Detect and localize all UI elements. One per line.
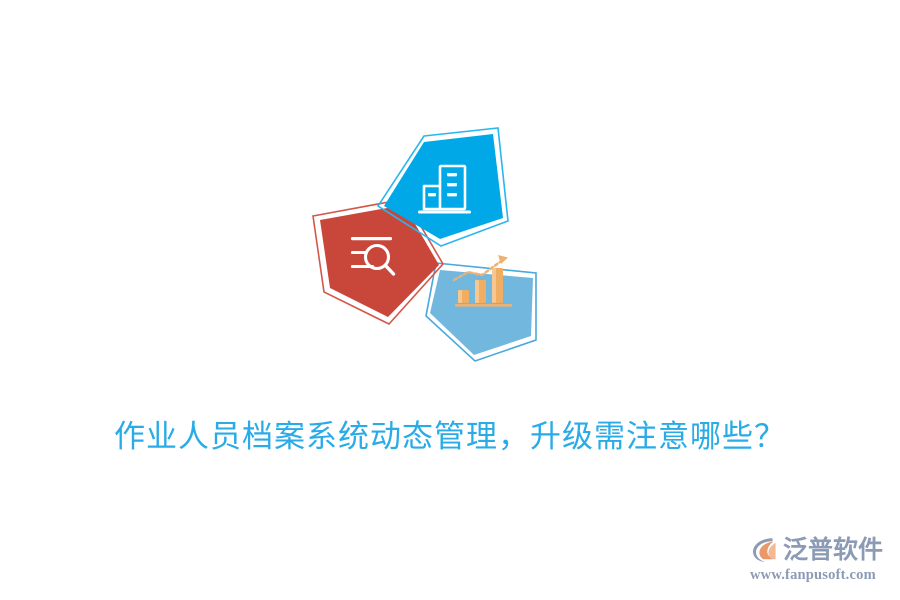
fanpu-swoosh-icon (750, 535, 780, 565)
brand-name: 泛普软件 (783, 535, 883, 565)
slide-canvas: 作业人员档案系统动态管理，升级需注意哪些？ 泛普软件 www.fanpusoft… (0, 0, 900, 600)
brand-row: 泛普软件 (750, 532, 886, 568)
brand-url: www.fanpusoft.com (750, 567, 886, 584)
page-title: 作业人员档案系统动态管理，升级需注意哪些？ (0, 415, 900, 459)
pentagon-bar-chart[interactable] (426, 255, 536, 361)
three-pentagon-cluster (300, 120, 560, 365)
brand-watermark[interactable]: 泛普软件 www.fanpusoft.com (750, 532, 886, 590)
